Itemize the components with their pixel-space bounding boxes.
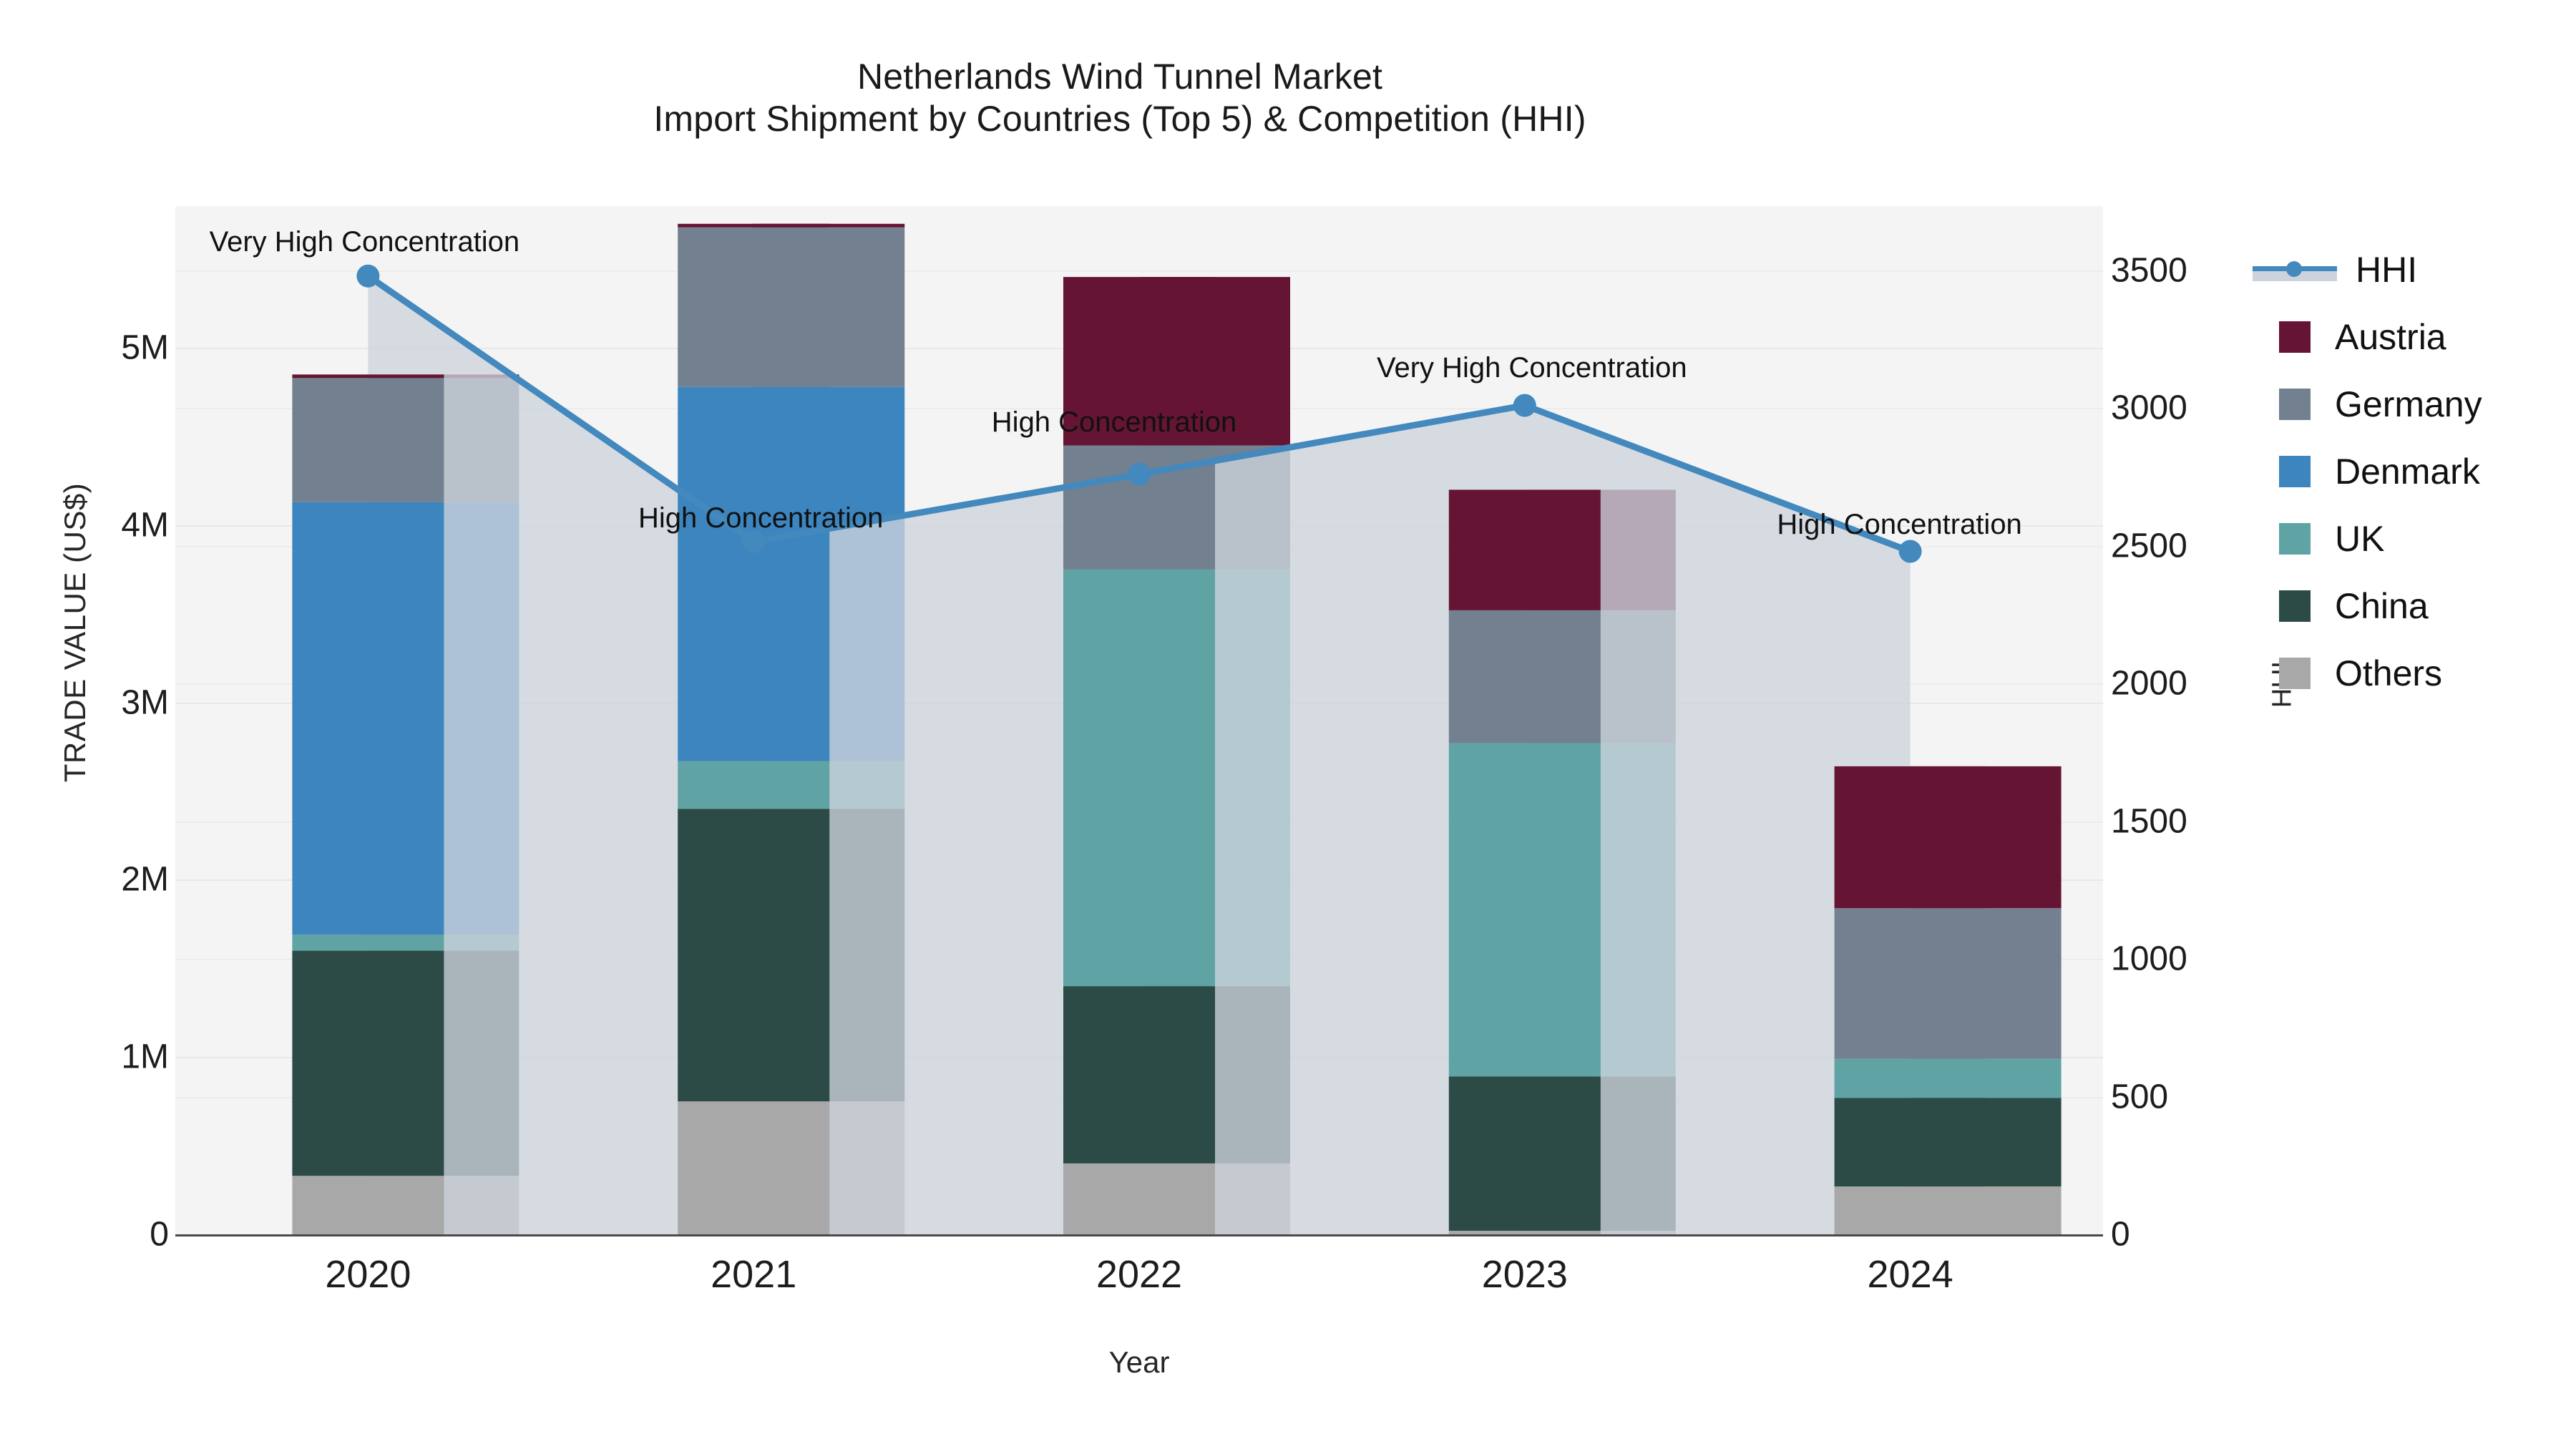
legend-item-denmark[interactable]: Denmark [2279,438,2482,505]
x-axis-label: Year [175,1345,2103,1380]
y-axis-right-tick: 3000 [2111,389,2290,428]
gridline [175,703,2103,704]
legend-item-austria[interactable]: Austria [2279,303,2482,371]
chart-title: Netherlands Wind Tunnel Market Import Sh… [0,56,2240,140]
x-axis-line [175,1234,2103,1236]
plot-area [175,206,2103,1234]
legend-item-hhi[interactable]: HHI [2279,236,2482,303]
legend-swatch-china [2279,590,2311,622]
y-axis-right-tick: 500 [2111,1077,2290,1116]
x-axis-tick-2022: 2022 [1032,1252,1246,1297]
legend-label-uk: UK [2335,521,2384,557]
x-axis-tick-2023: 2023 [1418,1252,1632,1297]
legend-swatch-denmark [2279,456,2311,487]
legend-marker-dot [2286,261,2302,277]
hhi-annotation-2024: High Concentration [1777,509,2021,541]
legend-item-others[interactable]: Others [2279,640,2482,707]
legend-swatch-austria [2279,321,2311,353]
hhi-annotation-2023: Very High Concentration [1377,352,1687,384]
x-axis-tick-2024: 2024 [1803,1252,2018,1297]
title-line-1: Netherlands Wind Tunnel Market [0,56,2240,98]
y-axis-right-tick: 1000 [2111,940,2290,979]
x-axis-tick-2021: 2021 [646,1252,861,1297]
chart-root: Netherlands Wind Tunnel Market Import Sh… [0,0,2576,1449]
y-axis-left-label: TRADE VALUE (US$) [58,382,92,883]
y-axis-left-tick: 0 [4,1215,169,1254]
y-axis-right-tick: 1500 [2111,801,2290,841]
hhi-annotation-2020: Very High Concentration [210,226,520,258]
legend-label-hhi: HHI [2356,252,2417,288]
gridline [175,1097,2103,1098]
gridline [175,821,2103,823]
y-axis-left-tick: 1M [4,1038,169,1077]
gridline [175,546,2103,547]
legend-label-china: China [2335,588,2429,624]
legend-label-others: Others [2335,655,2442,691]
legend-line-key-icon [2253,254,2337,286]
hhi-annotation-2021: High Concentration [638,502,883,535]
x-axis-tick-2020: 2020 [260,1252,475,1297]
legend-swatch-others [2279,658,2311,689]
legend-label-germany: Germany [2335,386,2482,422]
y-axis-right-tick: 2000 [2111,664,2290,703]
y-axis-right-tick: 2500 [2111,526,2290,565]
y-axis-left-tick: 5M [4,328,169,368]
legend-swatch-uk [2279,523,2311,555]
title-line-2: Import Shipment by Countries (Top 5) & C… [0,98,2240,140]
legend-label-austria: Austria [2335,319,2446,355]
legend-item-germany[interactable]: Germany [2279,371,2482,438]
legend-label-denmark: Denmark [2335,454,2480,489]
legend-swatch-germany [2279,389,2311,420]
legend-item-china[interactable]: China [2279,572,2482,640]
y-axis-right-tick: 0 [2111,1215,2290,1254]
legend: HHIAustriaGermanyDenmarkUKChinaOthers [2279,236,2482,707]
gridline [175,683,2103,685]
legend-item-uk[interactable]: UK [2279,505,2482,572]
gridline [175,879,2103,881]
gridline [175,959,2103,960]
hhi-annotation-2022: High Concentration [992,406,1236,439]
gridline [175,348,2103,349]
gridline [175,270,2103,272]
gridline [175,1057,2103,1058]
